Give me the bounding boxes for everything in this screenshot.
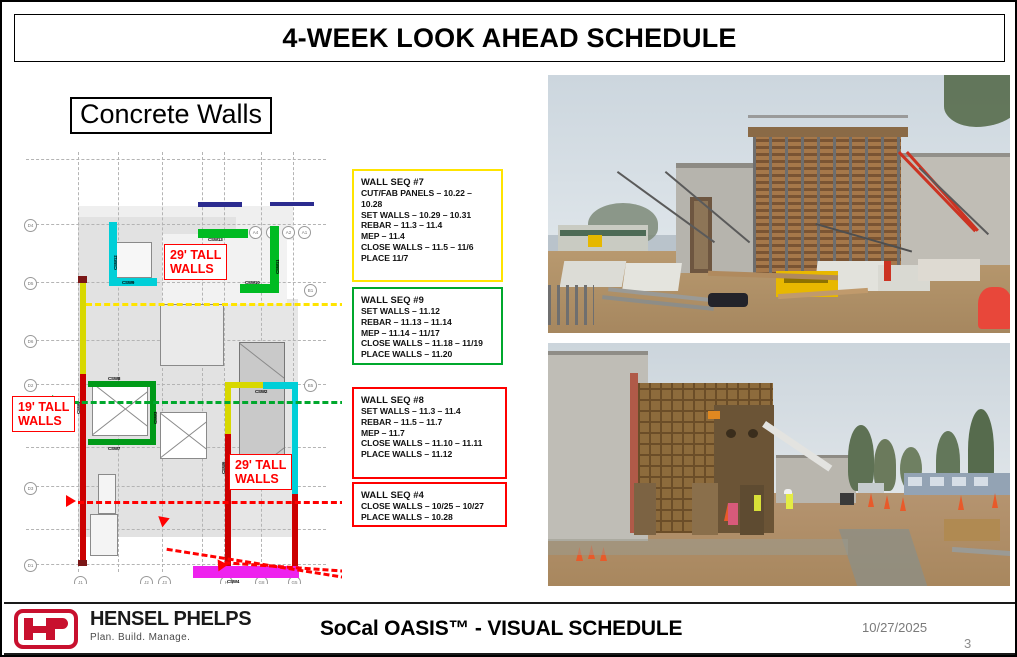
wall-tag-csw4: CSW4 <box>227 579 239 584</box>
wet-ground <box>548 539 848 555</box>
wall-green-csw8-top <box>88 381 156 387</box>
leader-arrow-seq8 <box>66 495 76 507</box>
footer-divider <box>4 602 1017 604</box>
wall-top-edge <box>548 351 648 355</box>
photo-rebar-wall[interactable] <box>548 343 1010 586</box>
trailer-window <box>952 477 966 486</box>
tree-canopy <box>944 75 1010 127</box>
wall-yellow-east-top <box>225 382 263 388</box>
photo-formwork-wall[interactable] <box>548 75 1010 333</box>
guardrail <box>748 115 908 118</box>
leader-line-seq7 <box>86 303 342 306</box>
leader-line-seq8 <box>78 501 342 504</box>
formwork-walkway <box>748 127 908 137</box>
callout-line: REBAR – 11.13 – 11.14 <box>361 317 495 328</box>
slide: 4-WEEK LOOK AHEAD SCHEDULE <box>0 0 1017 657</box>
pink-barrier <box>728 503 738 525</box>
wall-top-edge-right <box>901 153 1010 157</box>
wall-tag-csw3: CSW3 <box>153 412 158 424</box>
wall-tag-csw13: CSW13 <box>208 237 223 242</box>
callout-line: SET WALLS – 10.29 – 10.31 <box>361 210 495 221</box>
label-29-tall-walls-lower: 29' TALLWALLS <box>229 454 292 490</box>
worker-elevated <box>708 411 720 419</box>
grid-bubble: B1 <box>304 284 317 297</box>
building-distant <box>558 225 648 251</box>
black-tub <box>708 293 748 307</box>
floor-plan-drawing: D4 D5 D6 D2 D3 D1 J1 J2 J3 H G8 G5 A4 A3… <box>12 74 342 584</box>
wall-tag-csw6: CSW6 <box>221 462 226 474</box>
jersey-barrier <box>560 261 627 287</box>
grid-bubble: D4 <box>24 219 37 232</box>
wall-tag-csw10: CSW10 <box>245 280 260 285</box>
callout-wall-seq-9[interactable]: WALL SEQ #9 SET WALLS – 11.12 REBAR – 11… <box>352 287 503 365</box>
page-title: 4-WEEK LOOK AHEAD SCHEDULE <box>282 23 736 54</box>
grid-bubble: D1 <box>24 559 37 572</box>
wall-corner-nw <box>78 276 87 283</box>
callout-header: WALL SEQ #8 <box>361 394 499 405</box>
wall-red-east <box>292 494 298 569</box>
worker-hi-vis <box>786 493 793 509</box>
callout-line: PLACE WALLS – 11.20 <box>361 349 495 360</box>
callout-line: MEP – 11.14 – 11/17 <box>361 328 495 339</box>
door-opening <box>634 483 656 535</box>
wall-tag-csw2: CSW2 <box>255 389 267 394</box>
wall-green-csw13 <box>198 229 248 238</box>
grid-line <box>26 159 326 160</box>
callout-line: 10.28 <box>361 199 495 210</box>
wall-yellow-east <box>225 382 231 440</box>
door-opening <box>692 483 718 535</box>
worker-hi-vis <box>754 495 761 511</box>
wall-green-csw10 <box>240 284 279 293</box>
plan-title: Concrete Walls <box>70 97 272 134</box>
jersey-barrier <box>622 263 682 291</box>
wall-penetration <box>726 429 736 438</box>
red-mesh-bundle <box>978 287 1010 329</box>
footer-page-number: 3 <box>964 636 971 651</box>
callout-line: PLACE WALLS – 11.12 <box>361 449 499 460</box>
wall-tag-csw8: CSW8 <box>108 376 120 381</box>
hp-monogram <box>24 618 68 640</box>
grid-bubble: A1 <box>298 226 311 239</box>
grid-bubble: D5 <box>24 277 37 290</box>
footer-project-title: SoCal OASIS™ - VISUAL SCHEDULE <box>320 617 682 641</box>
callout-header: WALL SEQ #4 <box>361 489 499 500</box>
trailer-window <box>908 477 922 486</box>
leader-arrow-seq4-b <box>218 559 229 572</box>
callout-line: CLOSE WALLS – 11.10 – 11.11 <box>361 438 499 449</box>
callout-line: CLOSE WALLS – 10/25 – 10/27 <box>361 501 499 512</box>
callout-wall-seq-4[interactable]: WALL SEQ #4 CLOSE WALLS – 10/25 – 10/27 … <box>352 482 507 527</box>
grid-bubble: D6 <box>24 335 37 348</box>
brand-block: HENSEL PHELPS Plan. Build. Manage. <box>90 608 251 643</box>
rebar-stack <box>548 285 594 325</box>
grid-bubble: D2 <box>24 379 37 392</box>
grid-line <box>78 152 79 572</box>
callout-line: REBAR – 11.3 – 11.4 <box>361 220 495 231</box>
room-stair-a <box>92 382 148 436</box>
callout-line: SET WALLS – 11.12 <box>361 306 495 317</box>
callout-line: MEP – 11.4 <box>361 231 495 242</box>
grid-bubble: A2 <box>282 226 295 239</box>
yellow-machine-distant <box>588 235 602 247</box>
company-name: HENSEL PHELPS <box>90 608 251 631</box>
wall-navy-a <box>198 202 242 207</box>
callout-header: WALL SEQ #9 <box>361 294 495 305</box>
room-small-c <box>98 474 116 514</box>
callout-header: WALL SEQ #7 <box>361 176 495 187</box>
trailer-window <box>930 477 944 486</box>
floor-plan-panel[interactable]: D4 D5 D6 D2 D3 D1 J1 J2 J3 H G8 G5 A4 A3… <box>12 74 342 584</box>
slide-title-box: 4-WEEK LOOK AHEAD SCHEDULE <box>14 14 1005 62</box>
barrel <box>840 493 854 505</box>
grid-line <box>26 224 326 225</box>
wall-top-edge <box>676 163 761 168</box>
grid-bubble: A4 <box>249 226 262 239</box>
jersey-barrier <box>918 259 980 281</box>
hard-hat <box>784 489 792 494</box>
grid-bubble: B5 <box>304 379 317 392</box>
logo-stroke <box>46 618 68 629</box>
callout-wall-seq-7[interactable]: WALL SEQ #7 CUT/FAB PANELS – 10.22 – 10.… <box>352 169 503 282</box>
grid-bubble: J2 <box>140 576 153 584</box>
grid-bubble: J1 <box>74 576 87 584</box>
grid-line <box>26 529 326 530</box>
wall-penetration <box>748 429 758 438</box>
wall-corner-sw <box>78 560 87 566</box>
grid-line <box>26 282 326 283</box>
callout-line: PLACE WALLS – 10.28 <box>361 512 499 523</box>
callout-wall-seq-8[interactable]: WALL SEQ #8 SET WALLS – 11.3 – 11.4 REBA… <box>352 387 507 479</box>
wall-cyan-csw12 <box>109 222 117 282</box>
room-small-a <box>112 242 152 278</box>
callout-line: CLOSE WALLS – 11.5 – 11/6 <box>361 242 495 253</box>
room-stair-b <box>160 412 207 459</box>
leader-line-seq9 <box>64 401 342 404</box>
company-tagline: Plan. Build. Manage. <box>90 632 251 643</box>
fence-distant <box>560 230 646 236</box>
callout-line: CLOSE WALLS – 11.18 – 11/19 <box>361 338 495 349</box>
room-small-d <box>90 514 118 556</box>
wall-tag-csw11: CSW11 <box>275 260 280 274</box>
callout-line: SET WALLS – 11.3 – 11.4 <box>361 406 499 417</box>
callout-line: PLACE 11/7 <box>361 253 495 264</box>
red-jack <box>884 261 891 281</box>
callout-line: MEP – 11.7 <box>361 428 499 439</box>
wall-tag-csw9: CSW9 <box>122 280 134 285</box>
wall-tag-csw7: CSW7 <box>108 446 120 451</box>
tree <box>848 425 874 491</box>
lumber-stack <box>944 519 1000 541</box>
footer-date: 10/27/2025 <box>862 620 927 635</box>
wall-green-csw8-bot <box>88 439 156 445</box>
label-19-tall-walls: 19' TALLWALLS <box>12 396 75 432</box>
callout-line: CUT/FAB PANELS – 10.22 – <box>361 188 495 199</box>
hensel-phelps-logo-icon <box>14 609 78 649</box>
grid-bubble: J3 <box>158 576 171 584</box>
parked-vehicle <box>858 483 884 493</box>
callout-line: REBAR – 11.5 – 11.7 <box>361 417 499 428</box>
wall-tag-csw12: CSW12 <box>113 255 118 270</box>
trailer-window <box>974 477 988 486</box>
grid-bubble: D3 <box>24 482 37 495</box>
formwork-strongbacks <box>753 135 901 275</box>
footer-bottom-bar <box>4 653 1017 657</box>
room-small-b <box>160 304 224 366</box>
grid-line <box>118 152 119 572</box>
label-29-tall-walls-upper: 29' TALLWALLS <box>164 244 227 280</box>
wall-navy-b <box>270 202 314 206</box>
wall-cyan-east <box>292 382 298 497</box>
